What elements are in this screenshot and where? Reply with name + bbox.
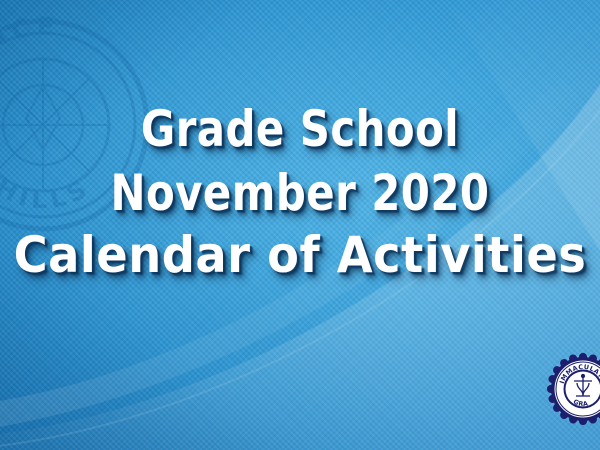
title-line-1: Grade School [21, 104, 579, 154]
title-line-3: Calendar of Activities [0, 230, 600, 280]
title-line-2: November 2020 [21, 168, 579, 218]
banner-title: Grade School November 2020 Calendar of A… [0, 0, 600, 450]
calendar-banner: ONCE NHILLS [0, 0, 600, 450]
